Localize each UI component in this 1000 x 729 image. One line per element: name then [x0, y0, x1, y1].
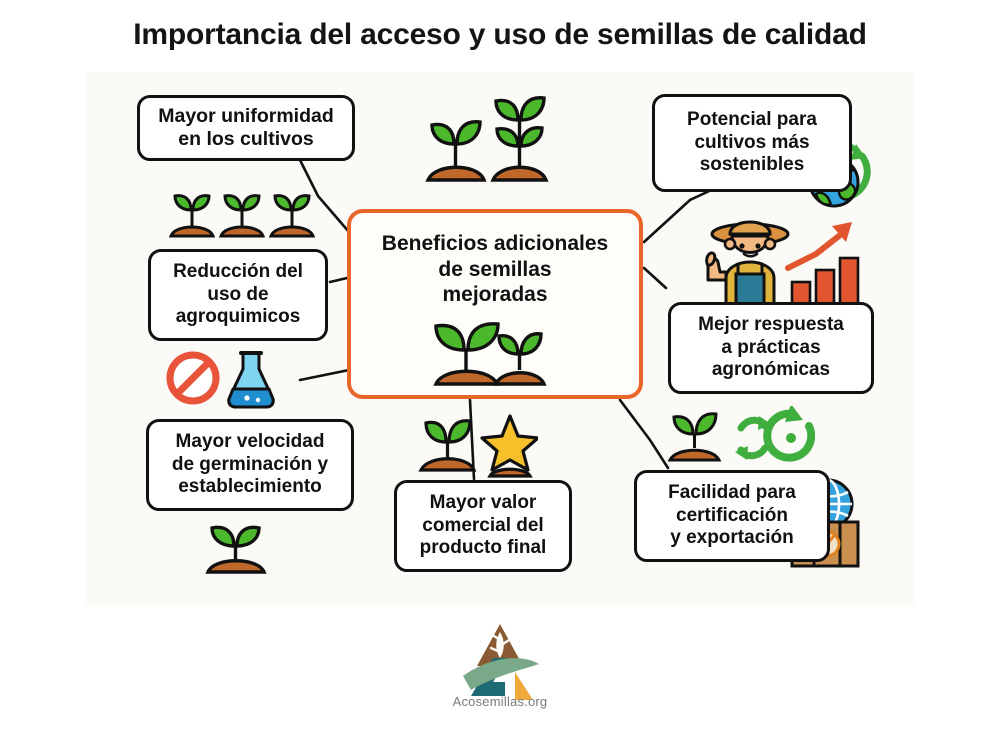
node-potencial-line1: Potencial para [687, 109, 817, 131]
center-node-beneficios[interactable]: Beneficios adicionales de semillas mejor… [347, 209, 643, 399]
node-reduccion-line3: agroquimicos [173, 306, 303, 328]
big-seedling [436, 324, 498, 384]
node-valor-line2: comercial del [420, 515, 547, 537]
node-velocidad-line1: Mayor velocidad [172, 431, 328, 453]
node-reduccion[interactable]: Reducción del uso de agroquimicos [148, 249, 328, 341]
node-mejor-respuesta[interactable]: Mejor respuesta a prácticas agronómicas [668, 302, 874, 394]
node-facilidad-line2: certificación [668, 505, 796, 527]
seedling-icon [196, 516, 276, 583]
node-uniformidad-line1: Mayor uniformidad [158, 105, 334, 128]
node-velocidad[interactable]: Mayor velocidad de germinación y estable… [146, 419, 354, 511]
seedling-star-icon [412, 410, 538, 485]
node-mejor-line3: agronómicas [698, 359, 844, 381]
node-velocidad-line2: de germinación y [172, 454, 328, 476]
farmer-figure [707, 222, 788, 308]
three-seedlings-row-icon [163, 180, 323, 251]
node-mejor-line1: Mejor respuesta [698, 314, 844, 336]
center-node-line2: de semillas [438, 257, 551, 283]
node-reduccion-line2: uso de [173, 284, 303, 306]
node-facilidad-exportacion[interactable]: Facilidad para certificación y exportaci… [634, 470, 830, 562]
node-valor-comercial[interactable]: Mayor valor comercial del producto final [394, 480, 572, 572]
no-chemicals-flask-icon [163, 345, 281, 416]
large-recycle-arrows [767, 406, 811, 458]
node-mejor-line2: a prácticas [698, 337, 844, 359]
node-valor-line1: Mayor valor [420, 492, 547, 514]
prohibition-icon [170, 355, 216, 401]
node-facilidad-line1: Facilidad para [668, 482, 796, 504]
two-seedlings-top-icon [418, 92, 568, 202]
center-node-line3: mejoradas [442, 282, 547, 308]
small-seedling [428, 122, 484, 180]
seedling-recycle-icon [663, 406, 815, 475]
node-potencial-line3: sostenibles [687, 154, 817, 176]
flask-icon [229, 353, 273, 407]
node-valor-line3: producto final [420, 537, 547, 559]
node-uniformidad[interactable]: Mayor uniformidad en los cultivos [137, 95, 355, 161]
node-facilidad-line3: y exportación [668, 527, 796, 549]
farmer-growth-chart-icon [692, 206, 864, 313]
infographic-canvas: Importancia del acceso y uso de semillas… [0, 0, 1000, 729]
bar-chart-icon [788, 222, 858, 308]
node-potencial-sostenible[interactable]: Potencial para cultivos más sostenibles [652, 94, 852, 192]
two-seedlings-icon [420, 314, 570, 399]
node-uniformidad-line2: en los cultivos [158, 128, 334, 151]
center-node-line1: Beneficios adicionales [382, 231, 608, 257]
node-potencial-line2: cultivos más [687, 132, 817, 154]
node-reduccion-line1: Reducción del [173, 261, 303, 283]
star-icon [482, 416, 538, 476]
seedling [421, 421, 474, 470]
small-seedling [496, 334, 544, 384]
tall-seedling [493, 98, 546, 180]
seedling [670, 414, 719, 460]
node-velocidad-line3: establecimiento [172, 476, 328, 498]
page-title: Importancia del acceso y uso de semillas… [0, 18, 1000, 52]
logo-text: Acosemillas.org [0, 694, 1000, 709]
